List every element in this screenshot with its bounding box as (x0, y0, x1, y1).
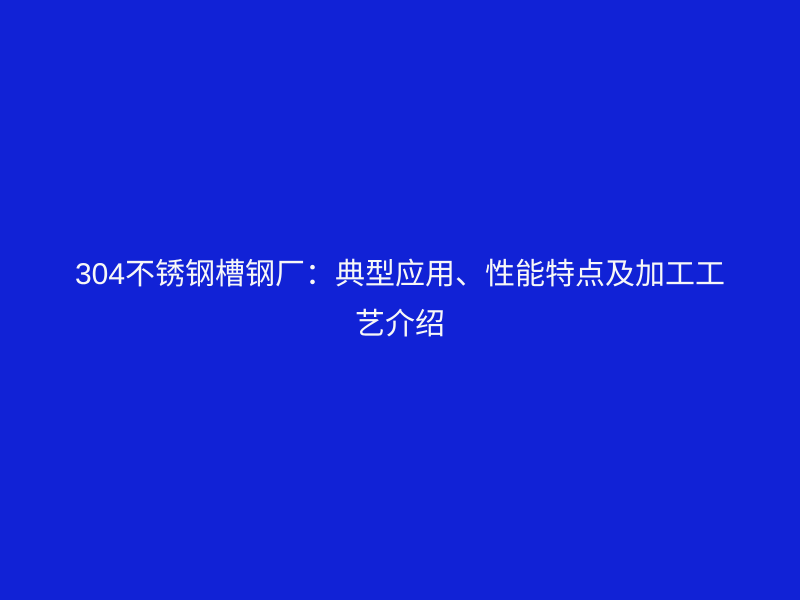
page-title: 304不锈钢槽钢厂：典型应用、性能特点及加工工艺介绍 (62, 250, 738, 350)
headline-block: 304不锈钢槽钢厂：典型应用、性能特点及加工工艺介绍 (62, 250, 738, 350)
title-card: 304不锈钢槽钢厂：典型应用、性能特点及加工工艺介绍 (0, 0, 800, 600)
